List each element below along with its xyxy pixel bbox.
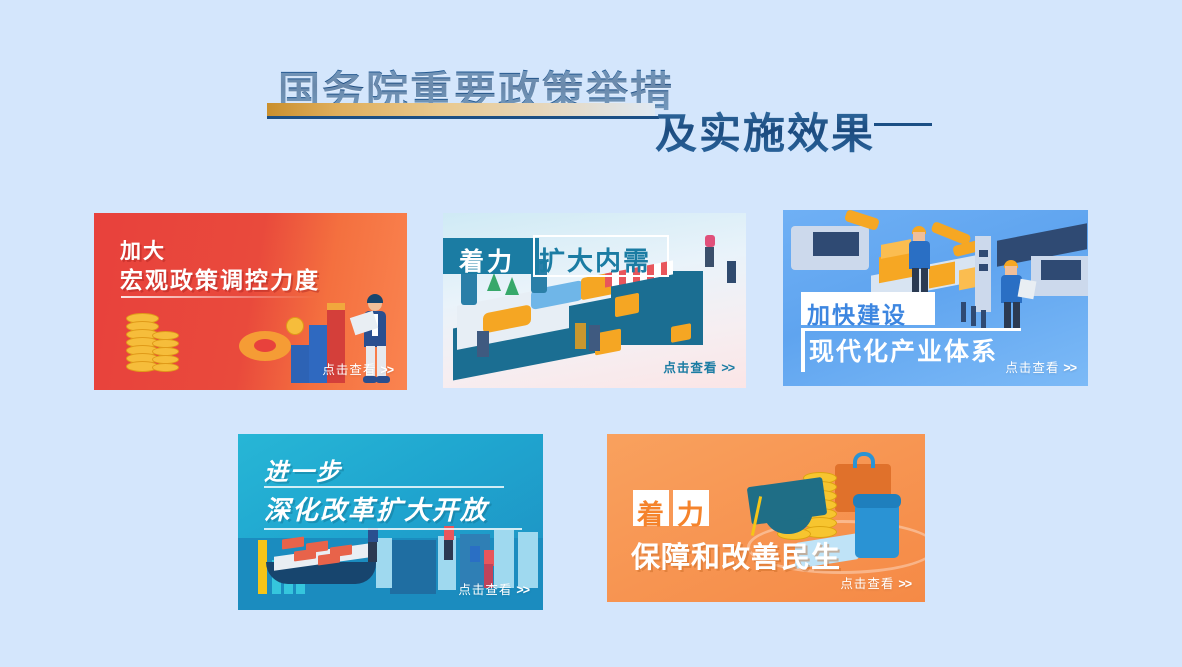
pedestrian-figure-2 — [575, 323, 586, 349]
policy-card-macro-control[interactable]: 加大 宏观政策调控力度 点击查看>> — [94, 213, 407, 390]
title-gold-bar — [267, 103, 655, 116]
shopper-figure-2 — [727, 261, 736, 283]
card-3-cta[interactable]: 点击查看>> — [1005, 357, 1076, 376]
machine-column-light-2 — [979, 264, 988, 271]
donut-ring-hole — [254, 339, 276, 352]
policy-card-livelihood[interactable]: 着 力 保障和改善民生 点击查看>> — [607, 434, 925, 602]
medicine-jar-icon — [855, 502, 899, 558]
cnc-machine-left-screen — [813, 232, 859, 256]
exhibition-panel-1 — [376, 538, 392, 588]
card-4-title-line-2: 深化改革扩大开放 — [264, 490, 488, 527]
page-title-line-2: 及实施效果 — [655, 100, 875, 161]
card-2-title-outline: 扩大内需 — [539, 241, 651, 278]
card-5-title-char-2: 力 — [677, 493, 704, 532]
card-1-cta-label: 点击查看 — [322, 363, 376, 377]
card-2-cta-label: 点击查看 — [663, 361, 717, 375]
visitor-legs-1 — [368, 542, 377, 562]
card-3-title-line-2: 现代化产业体系 — [809, 332, 998, 368]
card-3-cta-label: 点击查看 — [1005, 361, 1059, 375]
card-2-cta-arrows: >> — [721, 361, 734, 375]
title-rule-primary — [267, 116, 659, 119]
card-4-cta-label: 点击查看 — [458, 583, 512, 597]
spindle-2 — [971, 306, 976, 326]
machine-column-light-1 — [979, 250, 988, 257]
card-2-cta[interactable]: 点击查看>> — [663, 357, 734, 376]
card-5-cta-arrows: >> — [898, 577, 911, 591]
page-header: 国务院重要政策举措 及实施效果 — [0, 0, 1182, 190]
card-3-title-bracket — [801, 328, 805, 372]
spindle-3 — [981, 310, 986, 330]
card-3-cta-arrows: >> — [1063, 361, 1076, 375]
tree-icon-2 — [505, 277, 519, 295]
card-5-title-char-1: 着 — [637, 493, 664, 532]
card-4-rule-2 — [264, 528, 522, 530]
card-1-cta[interactable]: 点击查看>> — [322, 359, 393, 378]
card-1-title-line-2: 宏观政策调控力度 — [120, 261, 320, 295]
cnc-machine-right-screen — [1041, 260, 1081, 280]
card-5-cta-label: 点击查看 — [840, 577, 894, 591]
machine-column — [975, 236, 991, 312]
spindle-1 — [961, 302, 966, 322]
single-coin-icon — [286, 317, 304, 335]
card-1-cta-arrows: >> — [380, 363, 393, 377]
bar-chart-bar-3-cap — [327, 303, 345, 310]
card-1-divider — [121, 296, 316, 298]
card-3-title-line-1: 加快建设 — [807, 296, 907, 330]
title-rule-secondary — [874, 123, 932, 126]
visitor-figure-1 — [368, 528, 378, 542]
bar-chart-bar-1 — [291, 345, 309, 383]
card-4-rule-1 — [264, 486, 504, 488]
medicine-jar-cap — [853, 494, 901, 508]
policy-card-industrial-system[interactable]: 加快建设 现代化产业体系 点击查看>> — [783, 210, 1088, 386]
pedestrian-figure-1 — [477, 331, 489, 357]
visitor-legs-2 — [444, 540, 453, 560]
page-root: 国务院重要政策举措 及实施效果 — [0, 0, 1182, 667]
card-2-title-block: 着力 — [459, 242, 515, 278]
visitor-figure-3 — [470, 546, 480, 562]
exhibition-booth-1 — [390, 540, 436, 594]
card-4-cta-arrows: >> — [516, 583, 529, 597]
briefcase-handle — [853, 452, 875, 468]
card-5-cta[interactable]: 点击查看>> — [840, 573, 911, 592]
policy-card-reform-opening[interactable]: 进一步 深化改革扩大开放 点击查看>> — [238, 434, 543, 610]
card-4-cta[interactable]: 点击查看>> — [458, 579, 529, 598]
pedestrian-figure-3 — [589, 325, 600, 351]
card-4-title-line-1: 进一步 — [264, 452, 342, 487]
shopper-figure-1 — [705, 235, 715, 247]
shopper-legs-1 — [705, 247, 714, 267]
card-5-title-line-2: 保障和改善民生 — [631, 534, 841, 576]
policy-card-domestic-demand[interactable]: 着力 扩大内需 点击查看>> — [443, 213, 746, 388]
